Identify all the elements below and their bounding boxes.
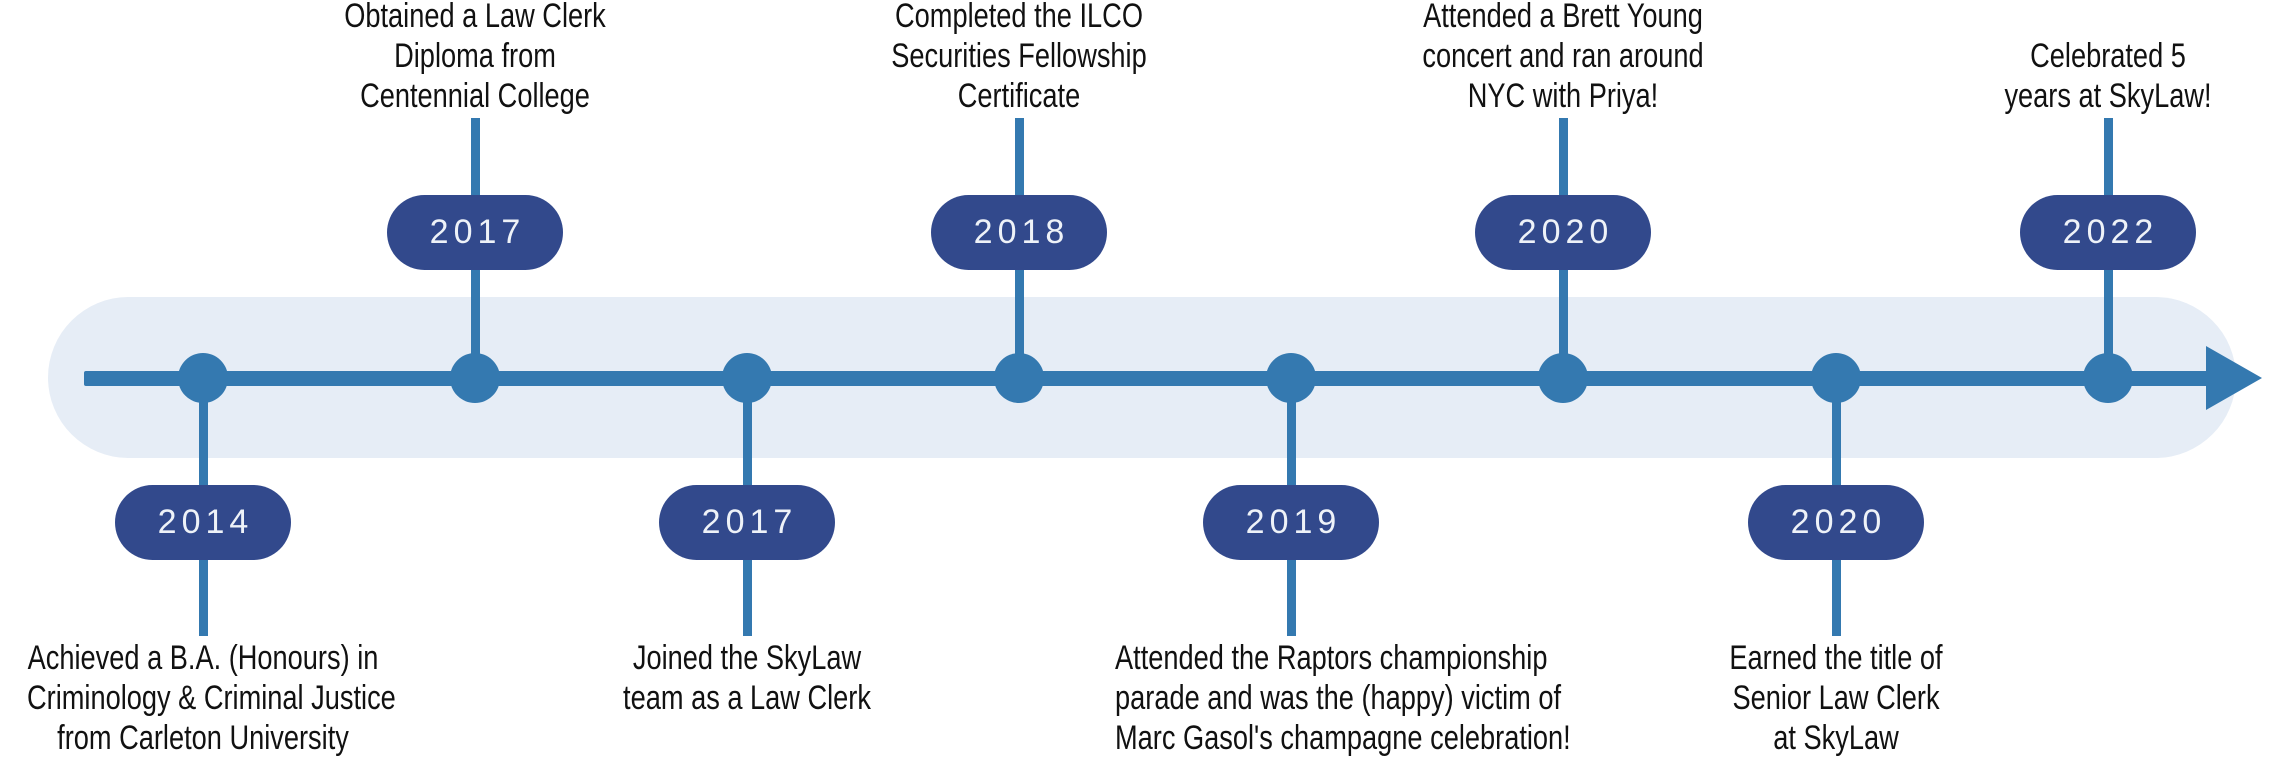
milestone-caption: Earned the title ofSenior Law Clerkat Sk… [1660,638,2012,758]
milestone-caption: Completed the ILCOSecurities FellowshipC… [843,0,1195,116]
caption-line: Achieved a B.A. (Honours) in [27,638,379,678]
year-badge[interactable]: 2017 [659,485,835,560]
timeline-infographic: 2014Achieved a B.A. (Honours) inCriminol… [0,0,2284,762]
caption-line: Obtained a Law Clerk [299,0,651,36]
caption-line: Attended the Raptors championship [1115,638,1467,678]
caption-line: team as a Law Clerk [571,678,923,718]
caption-line: Completed the ILCO [843,0,1195,36]
caption-line: Attended a Brett Young [1387,0,1739,36]
caption-line: Celebrated 5 [1932,36,2284,76]
milestone-caption: Joined the SkyLawteam as a Law Clerk [571,638,923,718]
node-to-year-connector [1287,378,1296,488]
caption-line: Marc Gasol's champagne celebration! [1115,718,1467,758]
caption-line: Earned the title of [1660,638,2012,678]
caption-line: concert and ran around [1387,36,1739,76]
caption-line: Centennial College [299,76,651,116]
caption-line: Certificate [843,76,1195,116]
year-badge[interactable]: 2017 [387,195,563,270]
year-badge[interactable]: 2020 [1475,195,1651,270]
node-to-year-connector [199,378,208,488]
node-to-year-connector [471,270,480,380]
year-to-caption-connector [1832,556,1841,636]
year-to-caption-connector [1559,118,1568,198]
caption-line: Diploma from [299,36,651,76]
year-to-caption-connector [2104,118,2113,198]
timeline-axis-line [84,371,2226,386]
caption-line: parade and was the (happy) victim of [1115,678,1467,718]
node-to-year-connector [1832,378,1841,488]
year-to-caption-connector [199,556,208,636]
node-to-year-connector [1559,270,1568,380]
milestone-caption: Celebrated 5years at SkyLaw! [1932,36,2284,116]
caption-line: years at SkyLaw! [1932,76,2284,116]
caption-line: at SkyLaw [1660,718,2012,758]
node-to-year-connector [743,378,752,488]
year-to-caption-connector [1015,118,1024,198]
year-badge[interactable]: 2019 [1203,485,1379,560]
milestone-caption: Achieved a B.A. (Honours) inCriminology … [27,638,379,758]
node-to-year-connector [1015,270,1024,380]
year-to-caption-connector [743,556,752,636]
caption-line: NYC with Priya! [1387,76,1739,116]
year-badge[interactable]: 2014 [115,485,291,560]
year-badge[interactable]: 2022 [2020,195,2196,270]
arrow-right-icon [2206,346,2262,410]
year-badge[interactable]: 2020 [1748,485,1924,560]
caption-line: Criminology & Criminal Justice [27,678,379,718]
caption-line: Senior Law Clerk [1660,678,2012,718]
milestone-caption: Obtained a Law ClerkDiploma fromCentenni… [299,0,651,116]
node-to-year-connector [2104,270,2113,380]
caption-line: from Carleton University [27,718,379,758]
caption-line: Securities Fellowship [843,36,1195,76]
caption-line: Joined the SkyLaw [571,638,923,678]
year-to-caption-connector [471,118,480,198]
year-badge[interactable]: 2018 [931,195,1107,270]
milestone-caption: Attended a Brett Youngconcert and ran ar… [1387,0,1739,116]
year-to-caption-connector [1287,556,1296,636]
milestone-caption: Attended the Raptors championshipparade … [1115,638,1467,758]
